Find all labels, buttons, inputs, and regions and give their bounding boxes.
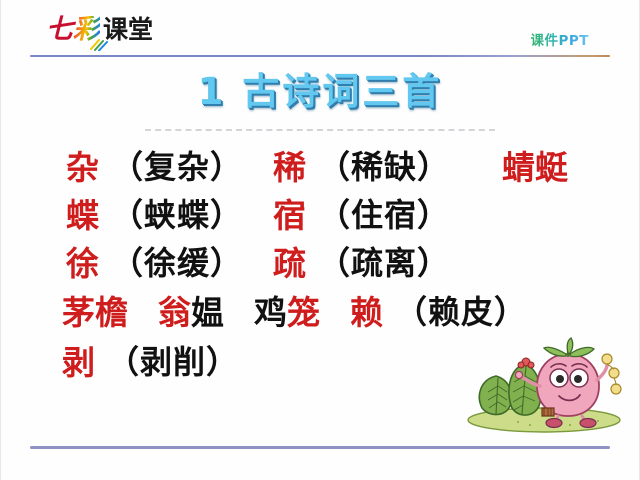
word-char-za: 杂 (66, 151, 99, 184)
word-char-ao: 媪 (191, 296, 224, 329)
word-char-xu: 徐 (66, 247, 99, 280)
cartoon-tomato-illustration (458, 332, 628, 434)
word-term-xuhuan: （徐缓） (111, 247, 243, 279)
word-char-su: 宿 (273, 199, 306, 232)
word-char-weng: 翁 (158, 296, 191, 329)
word-char-lai: 赖 (350, 296, 383, 329)
word-char-shu: 疏 (273, 247, 306, 280)
vocabulary-row-3: 徐 （徐缓） 疏 （疏离） (0, 239, 640, 287)
vocabulary-row-1: 杂 （复杂） 稀 （稀缺） 蜻蜓 (0, 143, 640, 191)
word-char-xi: 稀 (273, 151, 306, 184)
ppt-tag-label: 课件PPT (531, 29, 590, 49)
word-term-zhusu: （住宿） (318, 199, 450, 231)
page-title: 1 古诗词三首 (198, 72, 443, 113)
word-term-fuza: （复杂） (111, 151, 243, 183)
word-char-ji: 鸡 (254, 296, 287, 329)
word-term-laipi: （赖皮） (395, 296, 527, 328)
slide-header: 七 彩 课堂 课件PPT (0, 0, 640, 62)
title-dashed-underline (145, 129, 495, 131)
logo-char-3: 课堂 (103, 17, 153, 42)
word-term-xique: （稀缺） (318, 151, 450, 183)
vocabulary-row-2: 蝶 （蛱蝶） 宿 （住宿） (0, 191, 640, 239)
word-char-bo: 剥 (62, 346, 95, 379)
word-char-long: 笼 (287, 296, 320, 329)
footer-divider (30, 446, 610, 449)
word-term-shuli: （疏离） (318, 247, 450, 279)
word-char-qingting: 蜻蜓 (502, 151, 568, 184)
word-char-maoyan: 茅檐 (62, 296, 128, 329)
logo-swoosh-icon (90, 39, 110, 51)
word-term-jiadie: （蛱蝶） (111, 199, 243, 231)
word-char-die: 蝶 (66, 199, 99, 232)
vocabulary-row-4: 茅檐 翁 媪 鸡 笼 赖 （赖皮） (0, 287, 640, 337)
word-term-boxue: （剥削） (107, 346, 239, 378)
page-title-container: 1 古诗词三首 (0, 72, 640, 113)
logo-char-1: 七 (46, 16, 72, 43)
slide-canvas: 七 彩 课堂 课件PPT 1 古诗词三首 杂 （复杂） 稀 （稀缺） 蜻蜓 (0, 0, 640, 480)
brand-logo: 七 彩 课堂 (46, 13, 153, 45)
header-divider (30, 55, 610, 57)
